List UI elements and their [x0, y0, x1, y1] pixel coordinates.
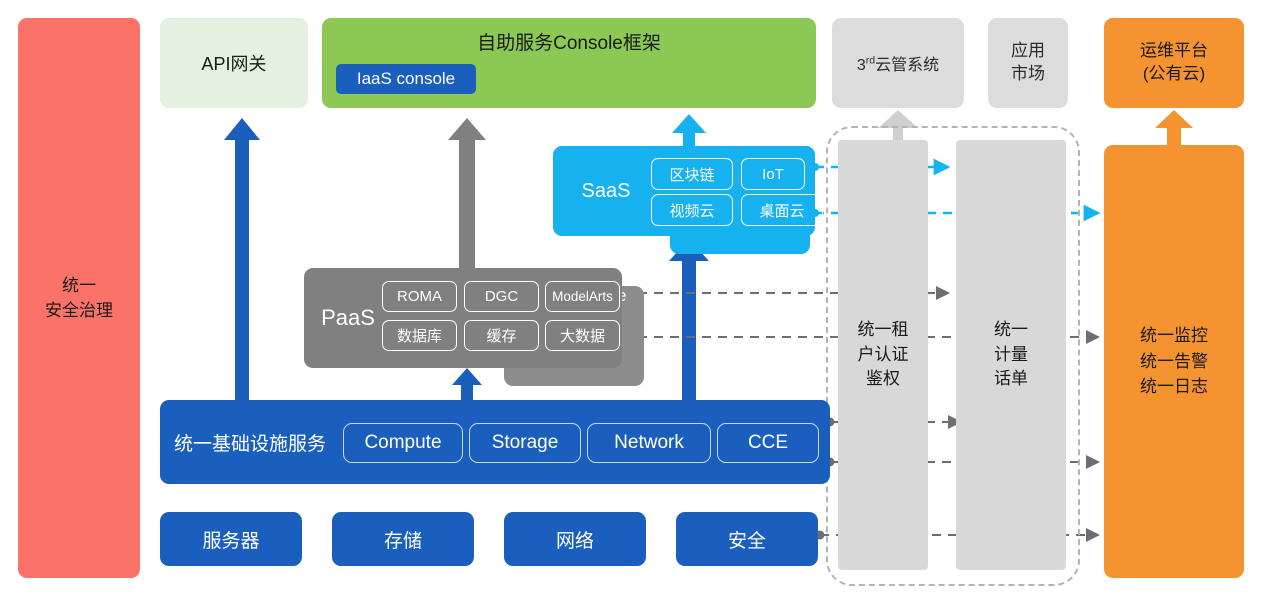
ops-platform-label: 运维平台 (公有云) [1140, 40, 1208, 86]
app-market-box[interactable]: 应用 市场 [988, 18, 1068, 108]
paas-item-database-label: 数据库 [397, 325, 442, 346]
paas-item-modelarts-label: ModelArts [552, 289, 613, 304]
api-gateway-label: API网关 [201, 50, 266, 76]
bottom-item-network[interactable]: 网络 [504, 512, 646, 566]
arrow-saas-to-console [672, 114, 706, 146]
paas-item-roma[interactable]: ROMA [382, 281, 457, 312]
infra-item-cce[interactable]: CCE [717, 423, 819, 463]
saas-item-blockchain-label: 区块链 [669, 164, 714, 185]
app-market-label: 应用 市场 [1011, 40, 1045, 86]
paas-box[interactable]: PaaS ROMA DGC ModelArts 数据库 缓存 大数据 [304, 268, 622, 368]
paas-label: PaaS [312, 268, 384, 368]
saas-label: SaaS [565, 146, 647, 236]
infra-item-storage-label: Storage [492, 432, 559, 454]
bottom-item-security-label: 安全 [728, 526, 766, 553]
architecture-diagram: 统一租 户认证 鉴权 统一 计量 话单 统一 安全治理 API网关 自助服务Co… [0, 0, 1265, 605]
paas-item-dgc-label: DGC [485, 288, 518, 305]
infra-item-cce-label: CCE [748, 432, 788, 454]
console-framework-title: 自助服务Console框架 [322, 28, 816, 55]
saas-item-video-cloud[interactable]: 视频云 [651, 194, 733, 226]
infra-item-storage[interactable]: Storage [469, 423, 581, 463]
ops-platform-box[interactable]: 运维平台 (公有云) [1104, 18, 1244, 108]
infra-item-network-label: Network [614, 432, 684, 454]
bottom-item-storage-label: 存储 [384, 526, 422, 553]
saas-item-desktop-cloud-label: 桌面云 [759, 200, 804, 221]
bottom-item-network-label: 网络 [556, 526, 594, 553]
unified-security-panel[interactable]: 统一 安全治理 [18, 18, 140, 578]
infrastructure-label: 统一基础设施服务 [174, 400, 326, 484]
iaas-console-label: IaaS console [357, 69, 455, 89]
saas-item-video-cloud-label: 视频云 [669, 200, 714, 221]
third-party-ordinal-sup: rd [866, 55, 875, 67]
bottom-item-storage[interactable]: 存储 [332, 512, 474, 566]
arrow-infra-to-apigw [224, 118, 260, 400]
paas-item-bigdata[interactable]: 大数据 [545, 320, 620, 351]
bottom-item-server-label: 服务器 [202, 526, 259, 553]
third-party-cloud-mgmt-label: 3rd云管系统 [857, 51, 939, 75]
metering-column-label: 统一 计量 话单 [994, 318, 1028, 392]
third-party-cloud-mgmt-box[interactable]: 3rd云管系统 [832, 18, 964, 108]
paas-item-cache-label: 缓存 [486, 325, 516, 346]
bottom-item-security[interactable]: 安全 [676, 512, 818, 566]
saas-box[interactable]: SaaS 区块链 IoT 视频云 桌面云 [553, 146, 815, 236]
arrow-paas-to-console [448, 118, 486, 268]
monitoring-panel-label: 统一监控 统一告警 统一日志 [1140, 323, 1208, 400]
iaas-console-chip[interactable]: IaaS console [336, 64, 476, 94]
arrow-infra-to-paas [452, 368, 482, 400]
arrow-infra-to-saas [669, 239, 709, 400]
auth-column[interactable]: 统一租 户认证 鉴权 [838, 140, 928, 570]
paas-item-database[interactable]: 数据库 [382, 320, 457, 351]
metering-column[interactable]: 统一 计量 话单 [956, 140, 1066, 570]
paas-item-cache[interactable]: 缓存 [464, 320, 539, 351]
saas-item-blockchain[interactable]: 区块链 [651, 158, 733, 190]
paas-item-dgc[interactable]: DGC [464, 281, 539, 312]
saas-item-iot-label: IoT [762, 166, 784, 183]
paas-item-modelarts[interactable]: ModelArts [545, 281, 620, 312]
saas-item-desktop-cloud[interactable]: 桌面云 [741, 194, 823, 226]
bottom-item-server[interactable]: 服务器 [160, 512, 302, 566]
infra-item-network[interactable]: Network [587, 423, 711, 463]
api-gateway-box[interactable]: API网关 [160, 18, 308, 108]
infra-item-compute-label: Compute [364, 432, 441, 454]
paas-item-roma-label: ROMA [397, 288, 442, 305]
saas-item-iot[interactable]: IoT [741, 158, 805, 190]
monitoring-panel[interactable]: 统一监控 统一告警 统一日志 [1104, 145, 1244, 578]
infrastructure-bar[interactable]: 统一基础设施服务 Compute Storage Network CCE [160, 400, 830, 484]
arrow-monitor-to-opsplatform [1155, 110, 1193, 145]
auth-column-label: 统一租 户认证 鉴权 [858, 318, 909, 392]
console-framework-box[interactable]: 自助服务Console框架 IaaS console PaaS console … [322, 18, 816, 108]
infra-item-compute[interactable]: Compute [343, 423, 463, 463]
unified-security-label: 统一 安全治理 [45, 273, 113, 324]
paas-item-bigdata-label: 大数据 [560, 325, 605, 346]
